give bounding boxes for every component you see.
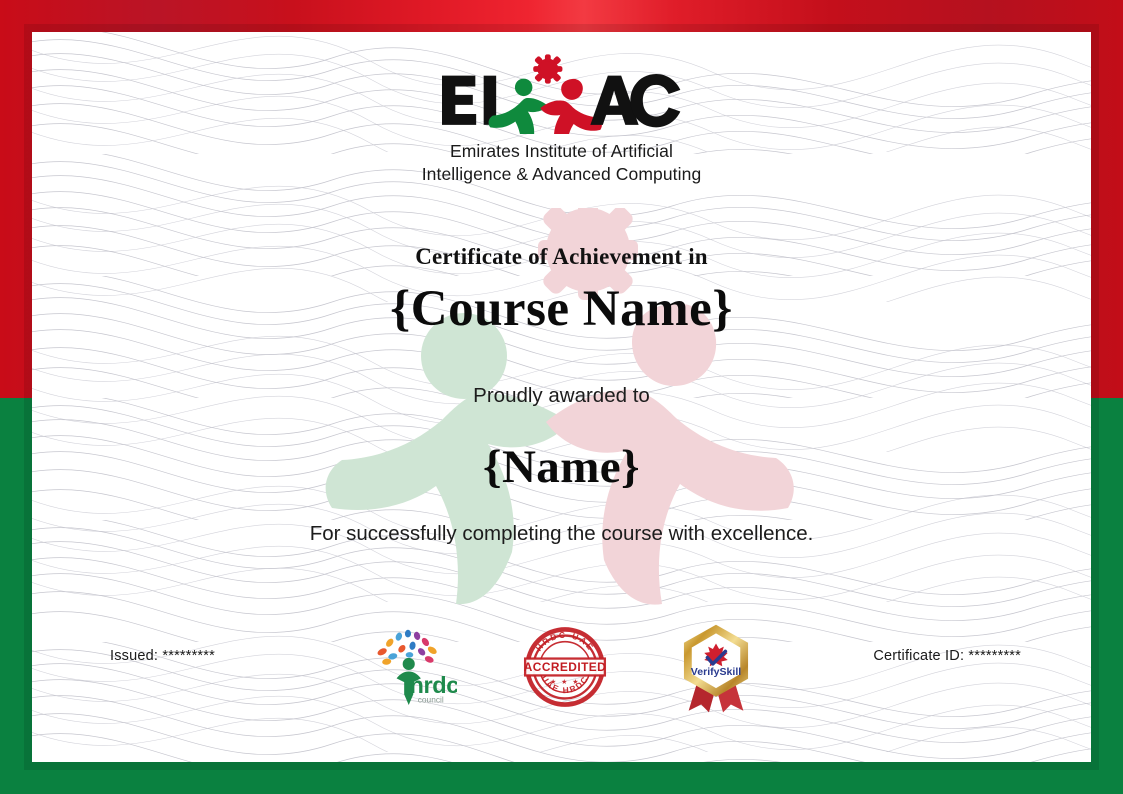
- institute-logo-block: Emirates Institute of Artificial Intelli…: [32, 54, 1091, 187]
- hrdc-wordmark: hrdc council: [409, 672, 457, 705]
- achievement-line: Certificate of Achievement in: [32, 244, 1091, 270]
- course-name: {Course Name}: [32, 280, 1091, 338]
- verifyskill-wordmark: VerifySkill: [690, 666, 740, 678]
- green-figure-icon: [488, 79, 547, 134]
- certificate-document: Emirates Institute of Artificial Intelli…: [0, 0, 1123, 794]
- certificate-paper: Emirates Institute of Artificial Intelli…: [32, 32, 1091, 762]
- hrdc-council-logo-icon: hrdc council: [365, 626, 457, 708]
- institute-subtitle-line-2: Intelligence & Advanced Computing: [32, 163, 1091, 186]
- eiaiac-logo-icon: [437, 54, 687, 134]
- recipient-name: {Name}: [32, 440, 1091, 494]
- gear-sunburst-icon: [533, 54, 562, 83]
- institute-subtitle-line-1: Emirates Institute of Artificial: [32, 140, 1091, 163]
- awarded-line: Proudly awarded to: [32, 384, 1091, 408]
- svg-text:hrdc: hrdc: [409, 672, 457, 698]
- institute-subtitle: Emirates Institute of Artificial Intelli…: [32, 140, 1091, 187]
- wordmark-right: [590, 74, 680, 127]
- badge-row: hrdc council: [365, 620, 759, 714]
- stamp-stars: ★ ★ ★: [550, 678, 580, 686]
- stamp-banner-text: ACCREDITED: [523, 660, 605, 674]
- issued-date: Issued: *********: [110, 648, 215, 664]
- red-figure-icon: [540, 79, 602, 134]
- wordmark-left: [442, 76, 496, 125]
- verifyskill-badge-icon: VerifySkill: [673, 620, 759, 714]
- success-line: For successfully completing the course w…: [32, 522, 1091, 546]
- accredited-stamp-icon: HRDC UAE UAE HRDC ★ ★ ★ ACCREDITED: [519, 621, 611, 713]
- certificate-id: Certificate ID: *********: [873, 648, 1021, 664]
- svg-text:council: council: [417, 695, 443, 705]
